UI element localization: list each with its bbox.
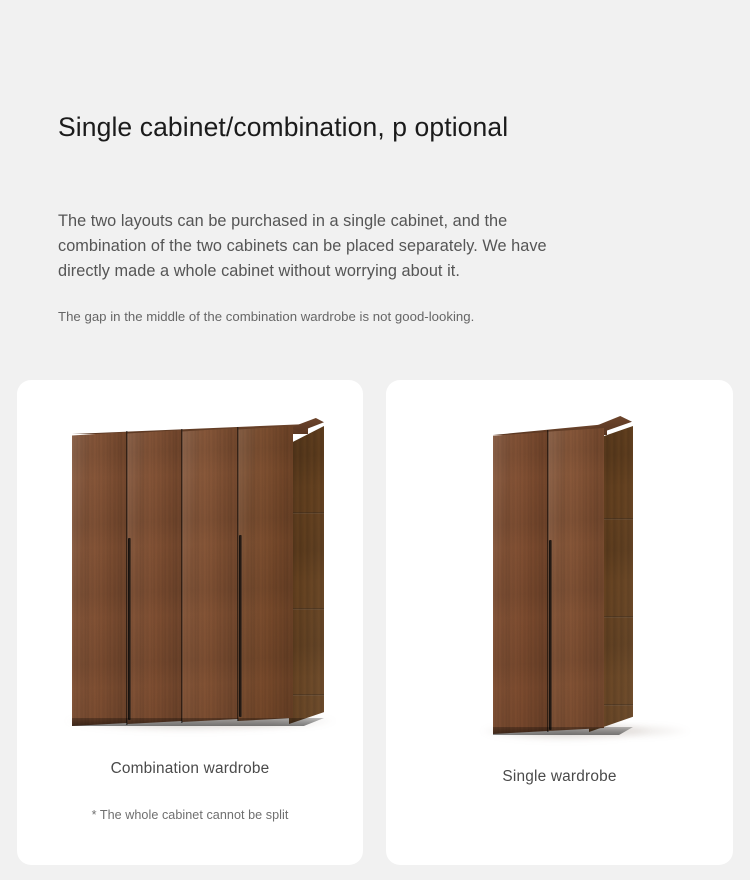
cabinet-base	[72, 718, 324, 726]
combination-wardrobe-image	[17, 380, 363, 750]
product-detail-page: Single cabinet/combination, p optional T…	[0, 0, 750, 880]
cabinet-base	[493, 727, 633, 735]
page-title: Single cabinet/combination, p optional	[58, 112, 698, 144]
side-joint-line	[289, 512, 324, 514]
surface-sheen	[72, 432, 127, 726]
door-handle-2	[239, 535, 242, 717]
door-seam-2	[181, 429, 183, 723]
single-wardrobe-image	[386, 380, 733, 750]
wardrobe-door-2	[127, 430, 182, 724]
door-handle-1	[549, 540, 552, 730]
surface-sheen	[127, 430, 182, 724]
card-subcaption-combination: * The whole cabinet cannot be split	[17, 808, 363, 822]
wardrobe-door-4	[238, 426, 293, 721]
card-caption-single: Single wardrobe	[386, 768, 733, 786]
surface-sheen	[182, 428, 238, 722]
wardrobe-door-3	[182, 428, 238, 722]
surface-sheen	[493, 432, 548, 734]
body-paragraph: The two layouts can be purchased in a si…	[58, 209, 598, 283]
surface-sheen	[548, 428, 604, 731]
door-handle-1	[128, 538, 131, 720]
wardrobe-door-2	[548, 428, 604, 731]
side-joint-line	[289, 608, 324, 610]
surface-sheen	[238, 426, 293, 721]
cabinet-side-panel	[289, 426, 324, 724]
card-single-wardrobe[interactable]: Single wardrobe	[386, 380, 733, 865]
card-combination-wardrobe[interactable]: Combination wardrobe * The whole cabinet…	[17, 380, 363, 865]
card-caption-combination: Combination wardrobe	[17, 760, 363, 778]
wardrobe-door-1	[72, 432, 127, 726]
wardrobe-door-1	[493, 432, 548, 734]
note-text: The gap in the middle of the combination…	[58, 307, 618, 327]
intro-text-block: Single cabinet/combination, p optional T…	[58, 112, 698, 144]
product-card-row: Combination wardrobe * The whole cabinet…	[17, 380, 733, 865]
surface-sheen	[289, 426, 324, 724]
side-joint-line	[289, 694, 324, 696]
